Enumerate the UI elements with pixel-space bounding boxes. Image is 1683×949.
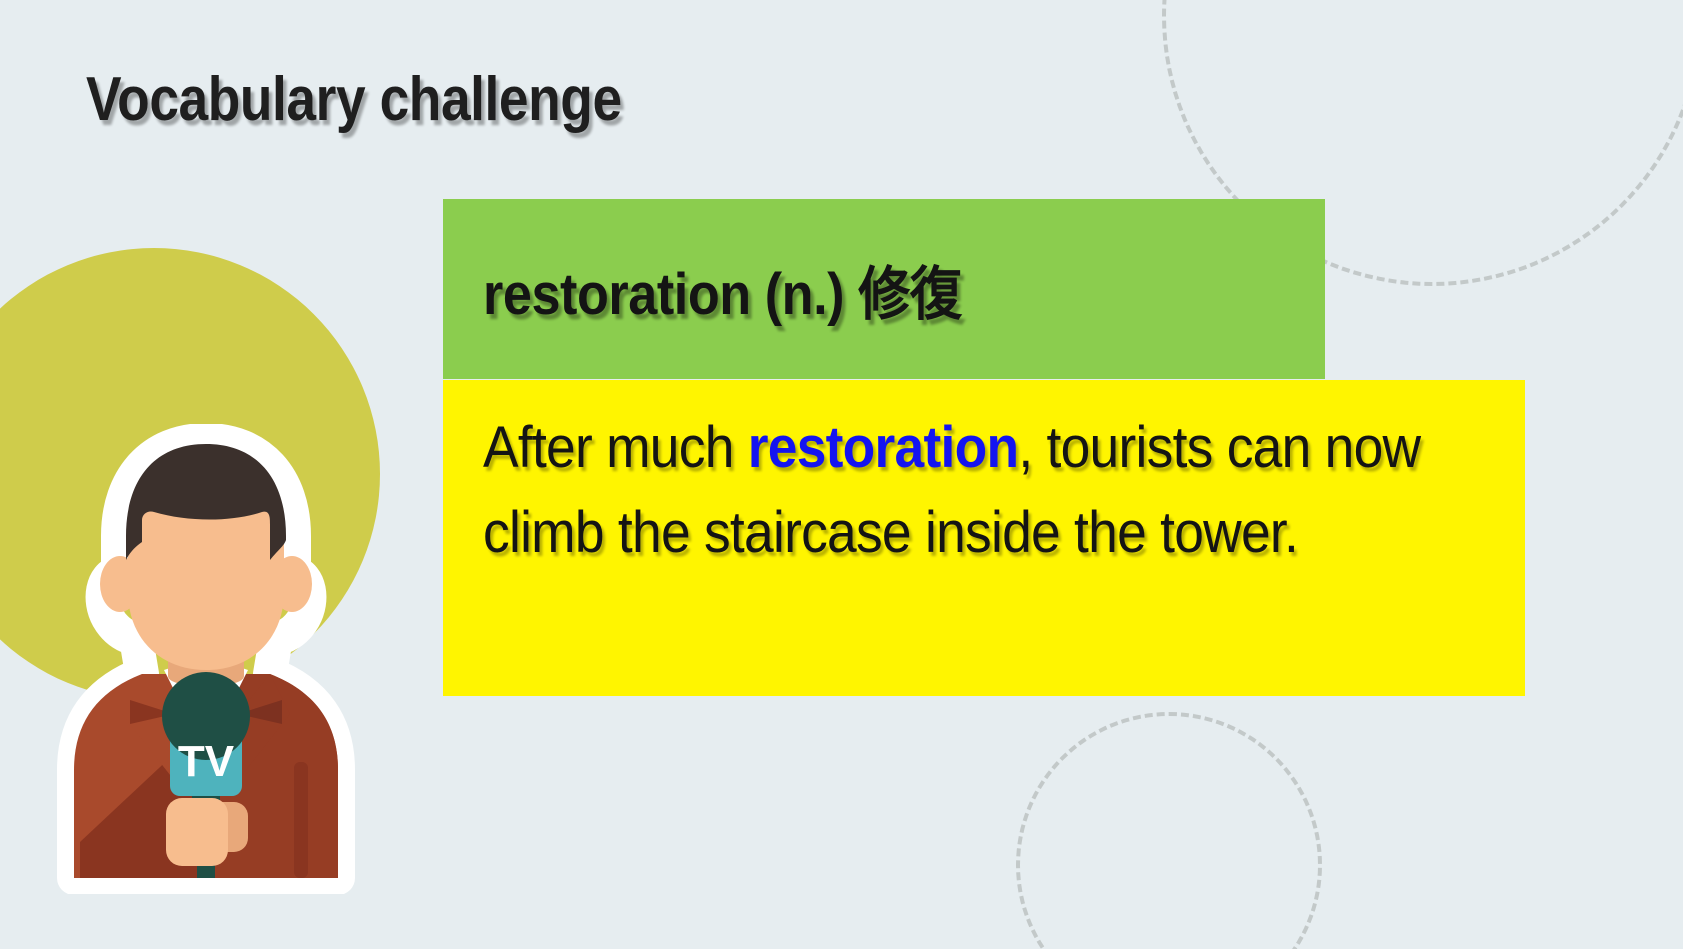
slide-canvas: Vocabulary challenge restoration (n.) 修復… <box>0 0 1683 949</box>
example-sentence-box: After much restoration, tourists can now… <box>443 380 1525 696</box>
vocabulary-word-banner: restoration (n.) 修復 <box>443 199 1325 379</box>
microphone-tv-label: TV <box>178 737 235 786</box>
reporter-illustration: TV <box>56 424 356 894</box>
dashed-circle-icon <box>1016 712 1322 949</box>
page-title: Vocabulary challenge <box>86 64 622 135</box>
example-sentence-text: After much restoration, tourists can now… <box>483 406 1442 575</box>
sentence-highlight-word: restoration <box>748 415 1019 480</box>
sentence-before: After much <box>483 415 748 480</box>
vocabulary-word-text: restoration (n.) 修復 <box>483 247 962 331</box>
